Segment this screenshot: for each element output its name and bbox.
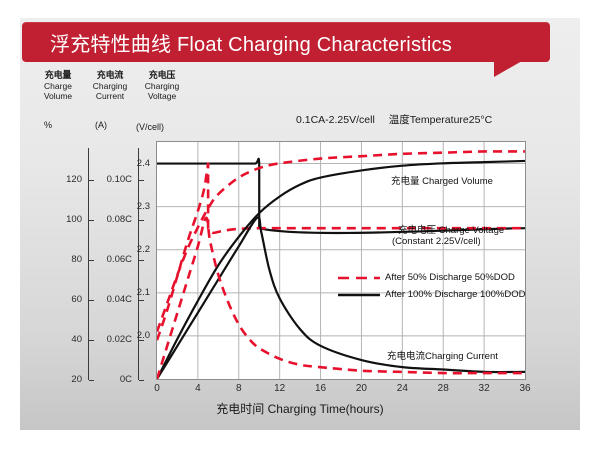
y-axis-tick-label-charging-voltage: 2.3 bbox=[110, 201, 150, 212]
y-axis-spine-charging-current bbox=[138, 148, 139, 380]
page-title: 浮充特性曲线 Float Charging Characteristics bbox=[22, 28, 452, 57]
y-axis-tick-label-charge-volume: 120 bbox=[42, 174, 82, 185]
axis-head-cn: 充电量 bbox=[32, 70, 84, 81]
axis-head-en2: Current bbox=[84, 91, 136, 102]
annotation-charge-voltage: 充电电压 Charge Voltage bbox=[398, 225, 504, 236]
y-axis-tick-label-charge-volume: 20 bbox=[42, 374, 82, 385]
axis-unit-ampere: (A) bbox=[95, 120, 107, 130]
x-axis-tick-label: 36 bbox=[519, 383, 530, 394]
axis-head-charging-current: 充电流 Charging Current bbox=[84, 70, 136, 102]
y-axis-tick bbox=[139, 300, 144, 301]
y-axis-tick-label-charging-voltage: 2.0 bbox=[110, 330, 150, 341]
y-axis-tick-label-charging-voltage: 2.2 bbox=[110, 244, 150, 255]
axis-head-en1: Charging bbox=[136, 81, 188, 92]
y-axis-tick-label-charging-current: 0.06C bbox=[92, 254, 132, 265]
x-axis-tick-label: 28 bbox=[438, 383, 449, 394]
legend-label: After 50% Discharge 50%DOD bbox=[385, 272, 515, 283]
x-axis-tick-label: 32 bbox=[479, 383, 490, 394]
y-axis-tick bbox=[139, 220, 144, 221]
annotation-charged-volume: 充电量 Charged Volume bbox=[391, 176, 493, 187]
x-axis-tick-label: 20 bbox=[356, 383, 367, 394]
x-axis-tick-label: 8 bbox=[236, 383, 242, 394]
axis-head-charging-voltage: 充电压 Charging Voltage bbox=[136, 70, 188, 102]
y-axis-tick-label-charging-current: 0.10C bbox=[92, 174, 132, 185]
annotation-charging-current: 充电电流Charging Current bbox=[387, 351, 498, 362]
x-axis-title: 充电时间 Charging Time(hours) bbox=[0, 400, 600, 417]
axis-unit-voltage: (V/cell) bbox=[136, 122, 164, 132]
axis-head-en1: Charging bbox=[84, 81, 136, 92]
condition-rate: 0.1CA-2.25V/cell bbox=[296, 114, 375, 126]
title-banner: 浮充特性曲线 Float Charging Characteristics bbox=[22, 22, 550, 62]
y-axis-tick bbox=[139, 380, 144, 381]
legend-label: After 100% Discharge 100%DOD bbox=[385, 289, 525, 300]
chart-legend: After 50% Discharge 50%DOD After 100% Di… bbox=[338, 269, 525, 303]
legend-item-100dod: After 100% Discharge 100%DOD bbox=[338, 286, 525, 303]
y-axis-tick bbox=[139, 180, 144, 181]
legend-item-50dod: After 50% Discharge 50%DOD bbox=[338, 269, 525, 286]
legend-swatch-dashed bbox=[338, 273, 380, 283]
y-axis-tick-label-charge-volume: 100 bbox=[42, 214, 82, 225]
axis-head-en1: Charge bbox=[32, 81, 84, 92]
y-axis-tick-label-charging-voltage: 2.1 bbox=[110, 287, 150, 298]
banner-tail-shape bbox=[494, 61, 522, 77]
legend-swatch-solid bbox=[338, 290, 380, 300]
y-axis-tick-label-charge-volume: 40 bbox=[42, 334, 82, 345]
axis-header-group: 充电量 Charge Volume 充电流 Charging Current 充… bbox=[32, 70, 192, 102]
x-axis-tick-label: 16 bbox=[315, 383, 326, 394]
x-axis-tick-label: 0 bbox=[154, 383, 160, 394]
x-axis-tick-label: 24 bbox=[397, 383, 408, 394]
x-axis-tick-label: 12 bbox=[274, 383, 285, 394]
condition-temperature: 温度Temperature25°C bbox=[389, 114, 492, 126]
axis-head-charge-volume: 充电量 Charge Volume bbox=[32, 70, 84, 102]
y-axis-tick-label-charging-current: 0C bbox=[92, 374, 132, 385]
axis-head-cn: 充电压 bbox=[136, 70, 188, 81]
y-axis-tick-label-charging-current: 0.08C bbox=[92, 214, 132, 225]
chart-condition-title: 0.1CA-2.25V/cell温度Temperature25°C bbox=[296, 112, 492, 127]
y-axis-tick-label-charge-volume: 60 bbox=[42, 294, 82, 305]
axis-head-en2: Volume bbox=[32, 91, 84, 102]
annotation-charge-voltage-sub: (Constant 2.25V/cell) bbox=[392, 236, 481, 247]
axis-head-en2: Voltage bbox=[136, 91, 188, 102]
axis-head-cn: 充电流 bbox=[84, 70, 136, 81]
chart-page: 浮充特性曲线 Float Charging Characteristics 充电… bbox=[0, 0, 600, 451]
y-axis-spine-charge-volume bbox=[88, 148, 89, 380]
x-axis-tick-label: 4 bbox=[195, 383, 201, 394]
series-line bbox=[157, 159, 525, 233]
axis-unit-percent: % bbox=[44, 120, 52, 130]
y-axis-tick-label-charging-voltage: 2.4 bbox=[110, 158, 150, 169]
y-axis-tick-label-charge-volume: 80 bbox=[42, 254, 82, 265]
y-axis-tick bbox=[139, 260, 144, 261]
